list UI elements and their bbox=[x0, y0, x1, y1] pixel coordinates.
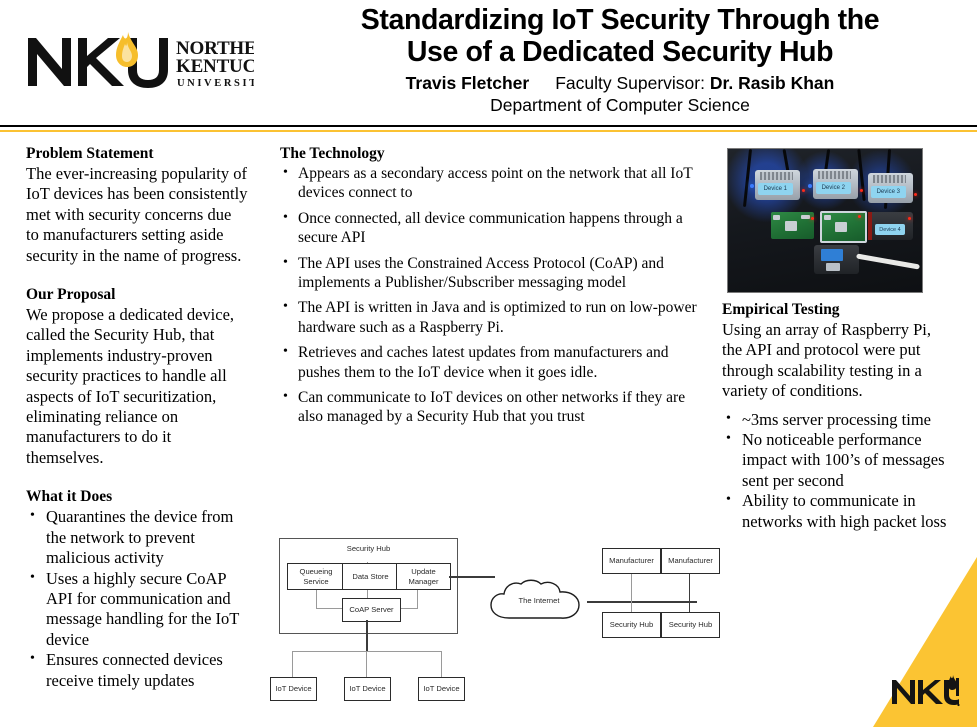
list-item: Appears as a secondary access point on t… bbox=[280, 164, 700, 203]
right-column: Empirical Testing Using an array of Rasp… bbox=[722, 300, 952, 532]
device-case-5 bbox=[814, 245, 859, 274]
heading-our-proposal: Our Proposal bbox=[26, 285, 248, 304]
raspberry-pi-board-1 bbox=[771, 212, 814, 239]
diagram-box-security-hub-remote-2: Security Hub bbox=[661, 612, 720, 638]
device-label-3: Device 3 bbox=[871, 186, 906, 199]
diagram-box-label: IoT Device bbox=[423, 684, 459, 694]
divider-gold bbox=[0, 130, 977, 132]
diagram-box-manufacturer-2: Manufacturer bbox=[661, 548, 720, 574]
device-label-4: Device 4 bbox=[875, 224, 905, 235]
title-line-1: Standardizing IoT Security Through the bbox=[270, 4, 970, 36]
nku-corner-logo bbox=[890, 675, 960, 709]
device-case-4: Device 4 bbox=[868, 212, 913, 240]
red-led bbox=[802, 189, 805, 192]
list-the-technology: Appears as a secondary access point on t… bbox=[280, 164, 700, 427]
diagram-box-label: IoT Device bbox=[275, 684, 311, 694]
diagram-connector bbox=[292, 651, 293, 677]
list-item: Ensures connected devices receive timely… bbox=[26, 650, 248, 691]
diagram-connector bbox=[441, 651, 442, 677]
logo-line-kentucky: KENTUCKY bbox=[176, 56, 254, 77]
heading-problem-statement: Problem Statement bbox=[26, 144, 248, 163]
middle-column: The Technology Appears as a secondary ac… bbox=[280, 144, 700, 433]
author-name: Travis Fletcher bbox=[406, 73, 530, 93]
diagram-security-hub-label: Security Hub bbox=[280, 544, 457, 553]
raspberry-pi-testbed-photo: Device 1 Device 2 Device 3 Device 4 bbox=[727, 148, 923, 293]
heading-the-technology: The Technology bbox=[280, 144, 700, 163]
device-case-2: Device 2 bbox=[813, 169, 858, 199]
red-led bbox=[908, 217, 911, 220]
list-what-it-does: Quarantines the device from the network … bbox=[26, 507, 248, 691]
diagram-box-label: Security Hub bbox=[610, 620, 653, 630]
blue-led bbox=[750, 184, 754, 188]
diagram-box-iot-device-1: IoT Device bbox=[270, 677, 317, 701]
byline: Travis FletcherFaculty Supervisor: Dr. R… bbox=[270, 72, 970, 94]
device-case-3: Device 3 bbox=[868, 173, 913, 203]
diagram-box-coap-server: CoAP Server bbox=[342, 598, 401, 622]
list-item: Once connected, all device communication… bbox=[280, 209, 700, 248]
list-item: The API is written in Java and is optimi… bbox=[280, 298, 700, 337]
diagram-connector bbox=[366, 620, 368, 652]
blue-led bbox=[808, 184, 812, 188]
list-item: No noticeable performance impact with 10… bbox=[722, 430, 952, 491]
diagram-box-label: Queueing Service bbox=[288, 567, 344, 586]
list-item: Ability to communicate in networks with … bbox=[722, 491, 952, 532]
nku-corner-flame-icon bbox=[948, 675, 957, 690]
diagram-box-label: Manufacturer bbox=[609, 556, 654, 566]
title-block: Standardizing IoT Security Through the U… bbox=[270, 4, 970, 116]
poster-header: NORTHERN KENTUCKY UNIVERSITY Standardizi… bbox=[0, 0, 977, 128]
supervisor-name: Dr. Rasib Khan bbox=[710, 73, 834, 93]
logo-line-university: UNIVERSITY bbox=[177, 78, 254, 89]
divider-black bbox=[0, 125, 977, 127]
red-led bbox=[811, 217, 814, 220]
diagram-box-manufacturer-1: Manufacturer bbox=[602, 548, 661, 574]
diagram-connector bbox=[366, 651, 367, 677]
diagram-box-iot-device-3: IoT Device bbox=[418, 677, 465, 701]
red-led bbox=[858, 215, 861, 218]
list-item: Quarantines the device from the network … bbox=[26, 507, 248, 568]
diagram-box-label: Security Hub bbox=[669, 620, 712, 630]
diagram-box-security-hub-remote-1: Security Hub bbox=[602, 612, 661, 638]
diagram-cloud-label: The Internet bbox=[487, 596, 591, 605]
diagram-connector-trunk bbox=[587, 601, 697, 603]
heading-what-it-does: What it Does bbox=[26, 487, 248, 506]
list-item: Can communicate to IoT devices on other … bbox=[280, 388, 700, 427]
text-our-proposal: We propose a dedicated device, called th… bbox=[26, 305, 248, 468]
diagram-box-label: CoAP Server bbox=[349, 605, 393, 615]
list-item: Uses a highly secure CoAP API for commun… bbox=[26, 569, 248, 651]
diagram-internet-cloud: The Internet bbox=[487, 578, 591, 626]
architecture-diagram: Security Hub Queueing Service Data Store… bbox=[265, 530, 720, 720]
red-led bbox=[860, 189, 863, 192]
diagram-box-label: Data Store bbox=[352, 572, 388, 582]
device-label-2: Device 2 bbox=[816, 182, 851, 195]
title-line-2: Use of a Dedicated Security Hub bbox=[270, 36, 970, 68]
text-empirical-testing: Using an array of Raspberry Pi, the API … bbox=[722, 320, 952, 402]
heading-empirical-testing: Empirical Testing bbox=[722, 300, 952, 319]
nku-logo: NORTHERN KENTUCKY UNIVERSITY bbox=[24, 28, 254, 98]
diagram-box-iot-device-2: IoT Device bbox=[344, 677, 391, 701]
nku-logo-svg: NORTHERN KENTUCKY UNIVERSITY bbox=[24, 28, 254, 98]
list-item: Retrieves and caches latest updates from… bbox=[280, 343, 700, 382]
list-item: The API uses the Constrained Access Prot… bbox=[280, 254, 700, 293]
text-problem-statement: The ever-increasing popularity of IoT de… bbox=[26, 164, 248, 266]
diagram-box-label: IoT Device bbox=[349, 684, 385, 694]
device-label-1: Device 1 bbox=[758, 183, 793, 196]
page-title: Standardizing IoT Security Through the U… bbox=[270, 4, 970, 68]
left-column: Problem Statement The ever-increasing po… bbox=[26, 144, 248, 691]
device-case-1: Device 1 bbox=[755, 170, 800, 200]
department-line: Department of Computer Science bbox=[270, 95, 970, 116]
list-item: ~3ms server processing time bbox=[722, 410, 952, 430]
diagram-box-label: Manufacturer bbox=[668, 556, 713, 566]
diagram-connector bbox=[292, 651, 442, 652]
diagram-box-update-manager: Update Manager bbox=[396, 563, 451, 590]
red-led bbox=[914, 193, 917, 196]
nku-corner-logo-svg bbox=[890, 675, 960, 709]
diagram-box-label: Update Manager bbox=[397, 567, 450, 586]
list-empirical-testing: ~3ms server processing time No noticeabl… bbox=[722, 410, 952, 532]
supervisor-label: Faculty Supervisor: bbox=[555, 73, 705, 93]
poster-canvas: NORTHERN KENTUCKY UNIVERSITY Standardizi… bbox=[0, 0, 977, 727]
diagram-box-data-store: Data Store bbox=[342, 563, 399, 590]
diagram-box-queueing-service: Queueing Service bbox=[287, 563, 345, 590]
